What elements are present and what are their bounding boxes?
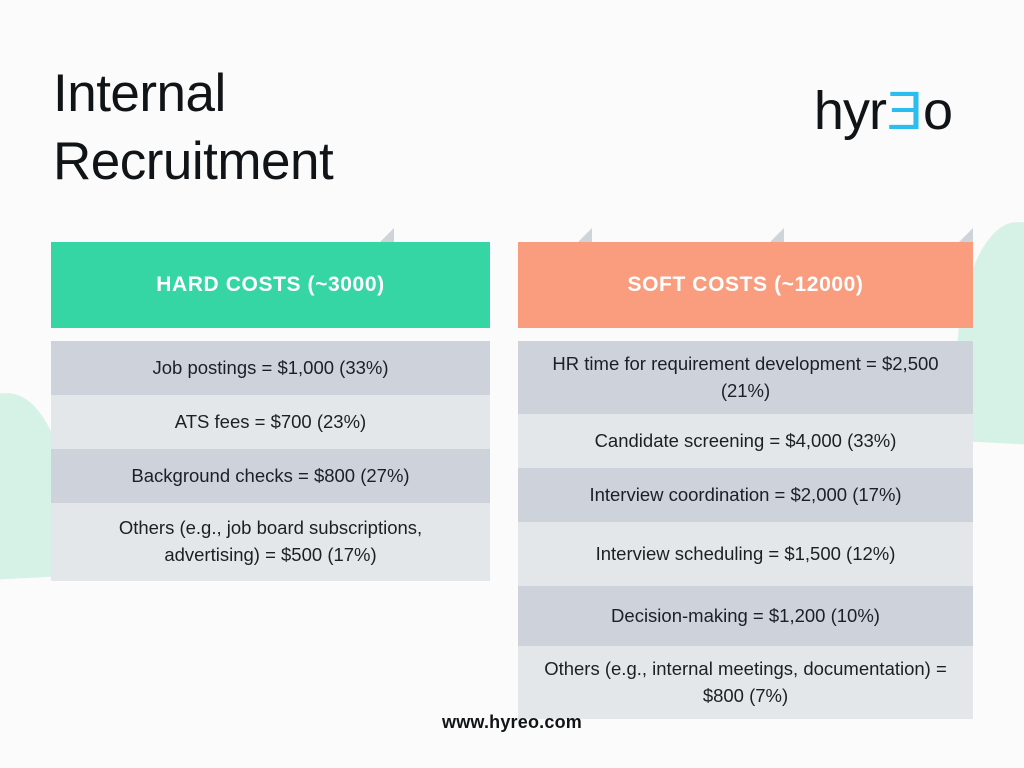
list-item[interactable]: ATS fees = $700 (23%)	[51, 395, 490, 449]
page-title: Internal Recruitment	[53, 60, 673, 196]
corner-notch-icon	[959, 228, 973, 242]
list-item[interactable]: Background checks = $800 (27%)	[51, 449, 490, 503]
slide-canvas: Internal Recruitment hyr Ǝ o HARD COSTS …	[0, 0, 1024, 768]
corner-notch-icon	[770, 228, 784, 242]
hyreo-logo: hyr Ǝ o	[814, 84, 952, 138]
column-soft-costs: SOFT COSTS (~12000) HR time for requirem…	[518, 228, 973, 719]
column-header-soft-costs: SOFT COSTS (~12000)	[518, 242, 973, 328]
notch-row-hard	[51, 228, 490, 242]
logo-text-part1: hyr	[814, 84, 886, 138]
list-item[interactable]: Decision-making = $1,200 (10%)	[518, 586, 973, 646]
cost-list-soft: HR time for requirement development = $2…	[518, 341, 973, 719]
list-item[interactable]: Job postings = $1,000 (33%)	[51, 341, 490, 395]
list-item[interactable]: Candidate screening = $4,000 (33%)	[518, 414, 973, 468]
notch-row-soft	[518, 228, 973, 242]
list-item[interactable]: Others (e.g., internal meetings, documen…	[518, 646, 973, 719]
logo-text-part3: o	[923, 84, 952, 138]
corner-notch-icon	[380, 228, 394, 242]
corner-notch-icon	[578, 228, 592, 242]
list-item[interactable]: Others (e.g., job board subscriptions, a…	[51, 503, 490, 581]
cost-list-hard: Job postings = $1,000 (33%) ATS fees = $…	[51, 341, 490, 581]
column-hard-costs: HARD COSTS (~3000) Job postings = $1,000…	[51, 228, 490, 581]
column-header-hard-costs: HARD COSTS (~3000)	[51, 242, 490, 328]
footer-url[interactable]: www.hyreo.com	[0, 712, 1024, 733]
list-item[interactable]: Interview coordination = $2,000 (17%)	[518, 468, 973, 522]
list-item[interactable]: Interview scheduling = $1,500 (12%)	[518, 522, 973, 586]
logo-reversed-e-icon: Ǝ	[887, 84, 922, 138]
list-item[interactable]: HR time for requirement development = $2…	[518, 341, 973, 414]
